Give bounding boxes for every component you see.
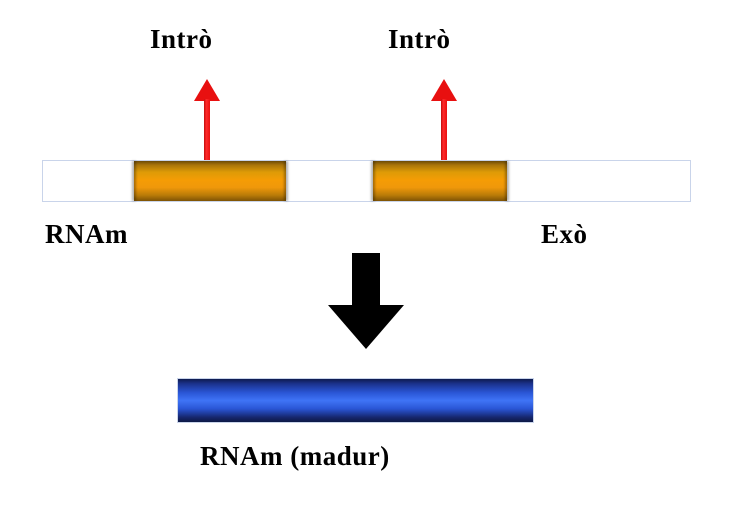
arrow-head-icon (431, 79, 457, 101)
exon-segment-2 (286, 161, 373, 201)
intron-segment-1 (134, 161, 286, 201)
intron-label-1: Intrò (150, 26, 213, 53)
arrow-shaft (352, 253, 380, 307)
mature-mrna-strand (178, 379, 533, 422)
splicing-process-arrow (328, 253, 404, 349)
intron-label-2: Intrò (388, 26, 451, 53)
pre-mrna-label: RNAm (45, 221, 128, 248)
intron-pointer-arrow-2 (431, 79, 457, 171)
arrow-head-icon (194, 79, 220, 101)
splicing-diagram-canvas: Intrò Intrò RNAm Exò RNAm (madur) (0, 0, 730, 512)
arrow-head-icon (328, 305, 404, 349)
mature-mrna-label: RNAm (madur) (200, 443, 390, 470)
pre-mrna-strand (43, 161, 690, 201)
intron-pointer-arrow-1 (194, 79, 220, 171)
exon-segment-3 (507, 161, 690, 201)
intron-segment-2 (373, 161, 507, 201)
exon-label: Exò (541, 221, 588, 248)
exon-segment-1 (43, 161, 134, 201)
